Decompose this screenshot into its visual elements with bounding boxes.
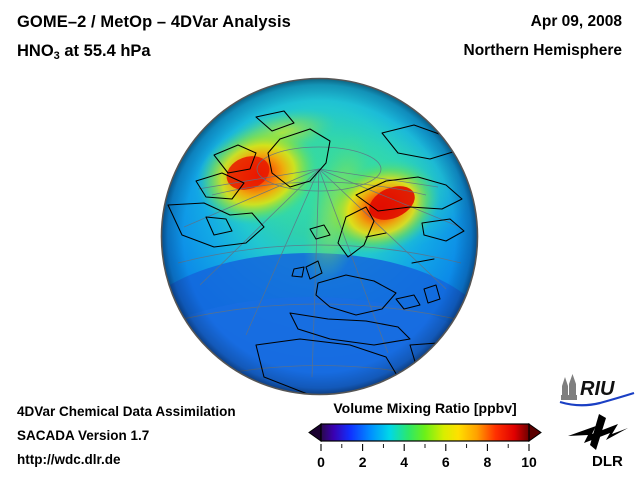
colorbar-graphic [300, 421, 550, 445]
pressure-level-label: at 55.4 hPa [60, 42, 151, 60]
footer-line-assimilation: 4DVar Chemical Data Assimilation [17, 404, 236, 419]
footer-line-url[interactable]: http://wdc.dlr.de [17, 452, 121, 467]
region-label: Northern Hemisphere [464, 42, 622, 60]
colorbar-gradient [321, 424, 529, 441]
globe-svg [160, 77, 479, 396]
riu-logo: RIU [556, 373, 636, 407]
colorbar-tick-2: 2 [359, 454, 367, 470]
globe-map [160, 77, 479, 396]
colorbar-tick-8: 8 [483, 454, 491, 470]
riu-cathedral-icon [561, 374, 577, 400]
species-level-subtitle: HNO3 at 55.4 hPa [17, 42, 151, 61]
date-label: Apr 09, 2008 [531, 13, 622, 31]
colorbar-tick-6: 6 [442, 454, 450, 470]
colorbar-tick-4: 4 [400, 454, 408, 470]
colorbar: Volume Mixing Ratio [ppbv] [300, 400, 550, 472]
dlr-mark-icon [568, 414, 628, 450]
colorbar-over-arrow [529, 424, 541, 441]
colorbar-tick-10: 10 [521, 454, 537, 470]
page-title: GOME–2 / MetOp – 4DVar Analysis [17, 13, 291, 32]
colorbar-under-arrow [309, 424, 321, 441]
species-label: HNO [17, 42, 54, 60]
footer-line-version: SACADA Version 1.7 [17, 428, 149, 443]
dlr-logo-text: DLR [592, 453, 623, 470]
colorbar-title: Volume Mixing Ratio [ppbv] [300, 400, 550, 416]
dlr-logo: DLR [566, 412, 632, 470]
colorbar-tick-0: 0 [317, 454, 325, 470]
riu-logo-text: RIU [580, 378, 615, 400]
species-subscript: 3 [54, 50, 60, 62]
